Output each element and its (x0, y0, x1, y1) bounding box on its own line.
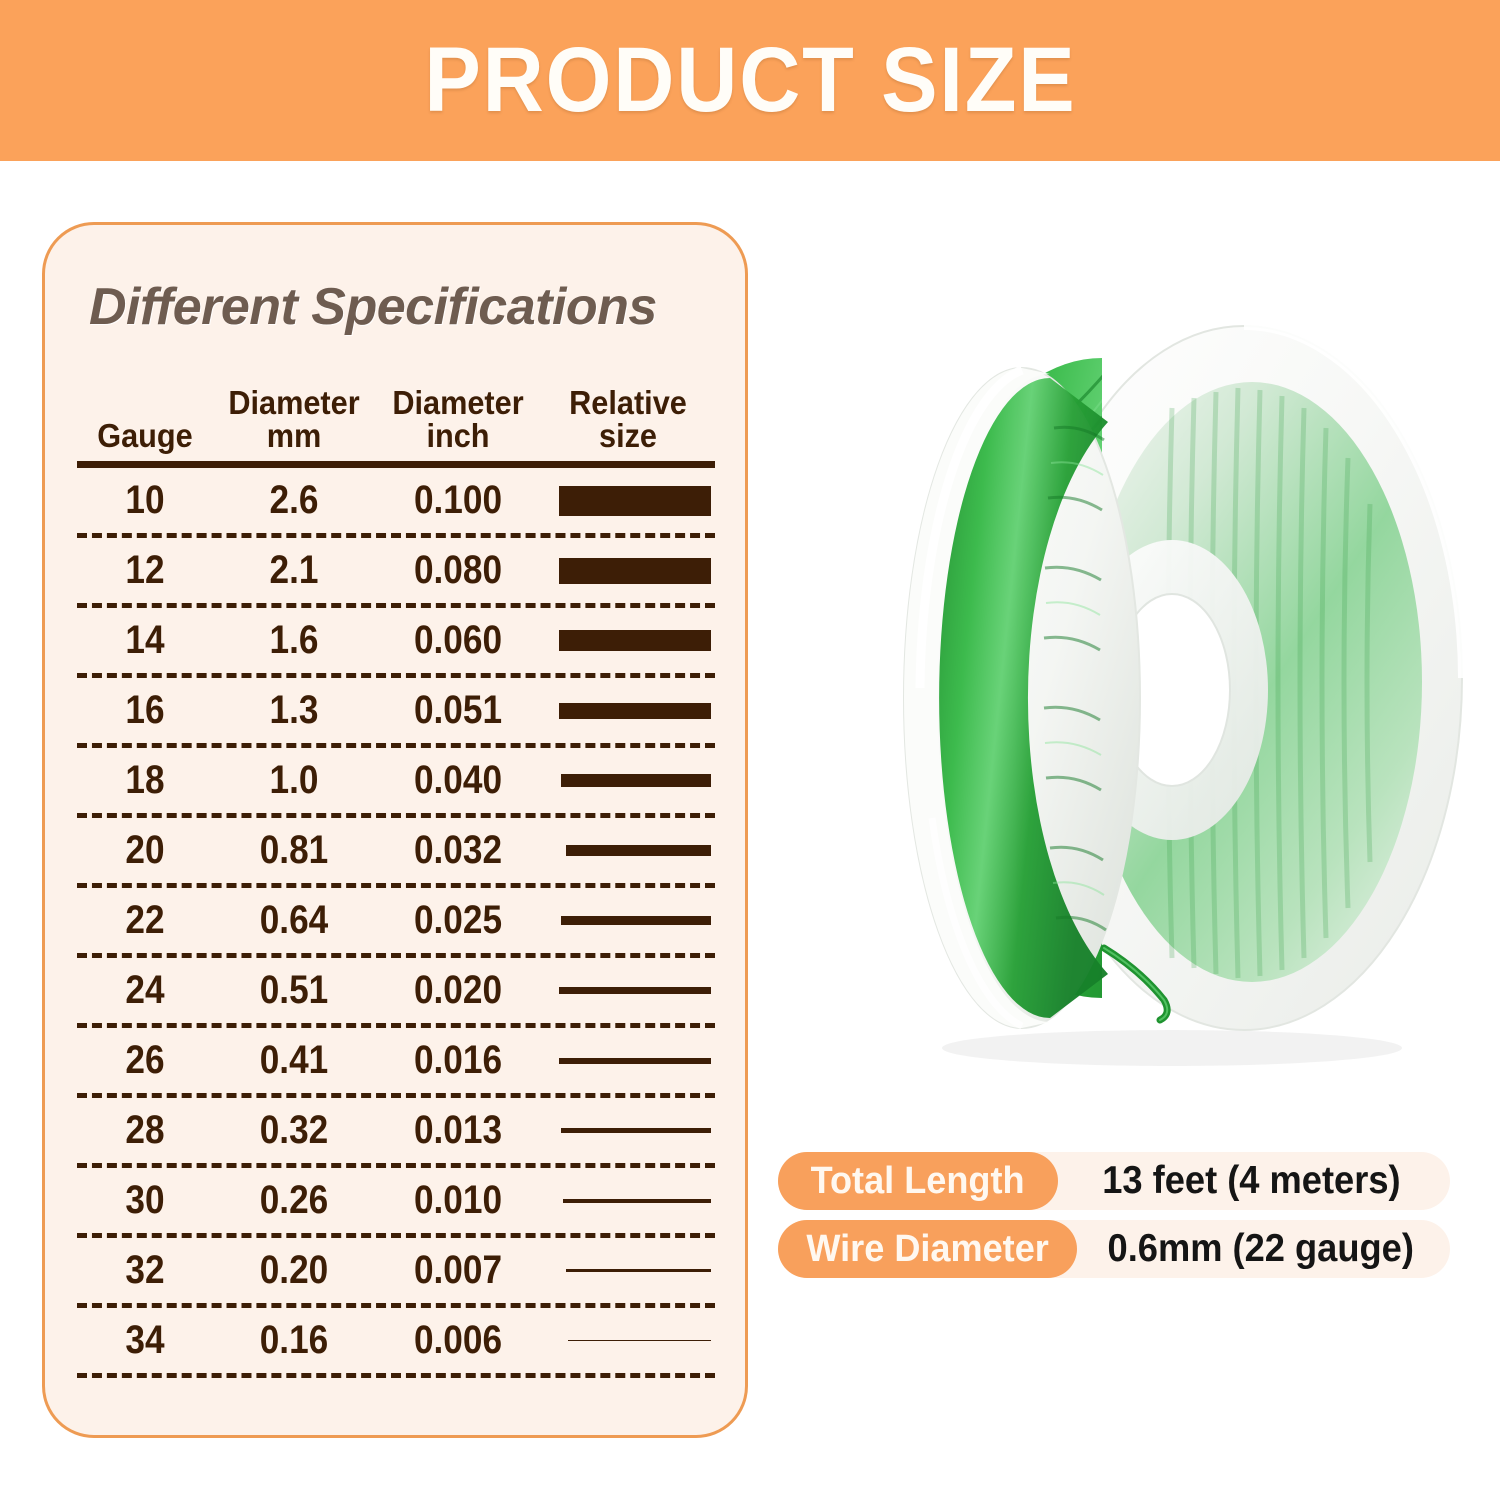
cell-diameter-inch: 0.013 (385, 1108, 531, 1153)
relative-size-bar (561, 1128, 711, 1133)
table-row: 220.640.025 (77, 888, 715, 953)
row-divider (77, 1373, 715, 1378)
cell-diameter-inch: 0.010 (385, 1178, 531, 1223)
column-header-gauge-line1: Gauge (97, 417, 193, 454)
spec-value-text: 13 feet (4 meters) (1102, 1159, 1400, 1203)
relative-size-bar (559, 558, 711, 584)
cell-gauge: 20 (85, 828, 205, 873)
column-header-diameter-inch-line1: Diameter (392, 384, 523, 421)
spec-row: Total Length13 feet (4 meters) (778, 1152, 1450, 1210)
cell-relative-size (541, 703, 715, 719)
column-header-diameter-mm-line1: Diameter (228, 384, 359, 421)
table-row: 300.260.010 (77, 1168, 715, 1233)
cell-diameter-mm: 0.64 (223, 898, 366, 943)
cell-gauge: 12 (85, 548, 205, 593)
relative-size-bar (563, 1199, 711, 1203)
table-row: 102.60.100 (77, 468, 715, 533)
relative-size-bar (566, 1269, 711, 1272)
cell-relative-size (541, 1269, 715, 1272)
relative-size-bar (561, 916, 711, 925)
product-spec-list: Total Length13 feet (4 meters)Wire Diame… (778, 1152, 1450, 1288)
cell-diameter-mm: 0.26 (223, 1178, 366, 1223)
cell-diameter-mm: 2.1 (223, 548, 366, 593)
table-row: 161.30.051 (77, 678, 715, 743)
relative-size-bar (568, 1340, 711, 1341)
column-header-gauge: Gauge (82, 419, 208, 453)
table-row: 320.200.007 (77, 1238, 715, 1303)
cell-diameter-mm: 0.41 (223, 1038, 366, 1083)
spec-label-text: Total Length (811, 1160, 1025, 1203)
table-row: 280.320.013 (77, 1098, 715, 1163)
table-header-row: Gauge Diameter mm Diameter inch Relative… (77, 373, 715, 453)
column-header-diameter-inch: Diameter inch (381, 386, 535, 453)
cell-diameter-mm: 0.20 (223, 1248, 366, 1293)
relative-size-bar (559, 987, 711, 994)
cell-diameter-mm: 2.6 (223, 478, 366, 523)
cell-gauge: 10 (85, 478, 205, 523)
cell-relative-size (541, 1058, 715, 1064)
table-row: 122.10.080 (77, 538, 715, 603)
table-row: 240.510.020 (77, 958, 715, 1023)
cell-relative-size (541, 774, 715, 787)
table-row: 340.160.006 (77, 1308, 715, 1373)
specifications-card: Different Specifications Gauge Diameter … (42, 222, 748, 1438)
column-header-relative-size: Relative size (547, 386, 709, 453)
cell-gauge: 18 (85, 758, 205, 803)
relative-size-bar (559, 1058, 711, 1064)
spec-value: 13 feet (4 meters) (1058, 1159, 1450, 1203)
cell-relative-size (541, 916, 715, 925)
cell-diameter-inch: 0.080 (385, 548, 531, 593)
cell-relative-size (541, 987, 715, 994)
relative-size-bar (559, 703, 711, 719)
cell-gauge: 28 (85, 1108, 205, 1153)
relative-size-bar (559, 486, 711, 516)
cell-diameter-inch: 0.040 (385, 758, 531, 803)
cell-gauge: 32 (85, 1248, 205, 1293)
page-title: PRODUCT SIZE (424, 28, 1076, 133)
cell-diameter-inch: 0.007 (385, 1248, 531, 1293)
spec-value: 0.6mm (22 gauge) (1077, 1227, 1450, 1271)
cell-diameter-inch: 0.016 (385, 1038, 531, 1083)
cell-diameter-mm: 0.51 (223, 968, 366, 1013)
gauge-specification-table: Gauge Diameter mm Diameter inch Relative… (77, 373, 715, 1378)
cell-diameter-inch: 0.060 (385, 618, 531, 663)
cell-diameter-inch: 0.032 (385, 828, 531, 873)
table-body: 102.60.100122.10.080141.60.060161.30.051… (77, 468, 715, 1378)
column-header-diameter-inch-line2: inch (381, 419, 535, 453)
cell-gauge: 24 (85, 968, 205, 1013)
cell-gauge: 34 (85, 1318, 205, 1363)
cell-diameter-inch: 0.100 (385, 478, 531, 523)
cell-diameter-mm: 0.16 (223, 1318, 366, 1363)
wire-spool-illustration (872, 258, 1480, 1078)
header-banner: PRODUCT SIZE (0, 0, 1500, 161)
cell-gauge: 26 (85, 1038, 205, 1083)
table-header-rule (77, 461, 715, 468)
table-row: 200.810.032 (77, 818, 715, 883)
product-image-wire-spool (872, 258, 1480, 1078)
column-header-relative-size-line1: Relative (569, 384, 687, 421)
column-header-diameter-mm: Diameter mm (219, 386, 370, 453)
column-header-relative-size-line2: size (547, 419, 709, 453)
cell-gauge: 30 (85, 1178, 205, 1223)
cell-diameter-mm: 0.81 (223, 828, 366, 873)
cell-diameter-inch: 0.006 (385, 1318, 531, 1363)
spec-value-text: 0.6mm (22 gauge) (1107, 1227, 1413, 1271)
relative-size-bar (566, 845, 711, 856)
spec-label-pill: Wire Diameter (778, 1220, 1077, 1278)
table-row: 141.60.060 (77, 608, 715, 673)
relative-size-bar (559, 630, 711, 651)
cell-diameter-inch: 0.025 (385, 898, 531, 943)
cell-relative-size (541, 1199, 715, 1203)
table-row: 260.410.016 (77, 1028, 715, 1093)
cell-relative-size (541, 1128, 715, 1133)
table-row: 181.00.040 (77, 748, 715, 813)
cell-gauge: 14 (85, 618, 205, 663)
spec-label-pill: Total Length (778, 1152, 1058, 1210)
cell-diameter-mm: 1.0 (223, 758, 366, 803)
cell-relative-size (541, 845, 715, 856)
cell-gauge: 16 (85, 688, 205, 733)
relative-size-bar (561, 774, 711, 787)
spec-label-text: Wire Diameter (806, 1228, 1048, 1271)
spec-row: Wire Diameter0.6mm (22 gauge) (778, 1220, 1450, 1278)
cell-relative-size (541, 1340, 715, 1341)
cell-relative-size (541, 630, 715, 651)
cell-relative-size (541, 486, 715, 516)
cell-diameter-inch: 0.020 (385, 968, 531, 1013)
cell-diameter-mm: 0.32 (223, 1108, 366, 1153)
cell-diameter-inch: 0.051 (385, 688, 531, 733)
cell-relative-size (541, 558, 715, 584)
cell-diameter-mm: 1.3 (223, 688, 366, 733)
column-header-diameter-mm-line2: mm (219, 419, 370, 453)
cell-diameter-mm: 1.6 (223, 618, 366, 663)
card-title: Different Specifications (89, 277, 657, 337)
cell-gauge: 22 (85, 898, 205, 943)
